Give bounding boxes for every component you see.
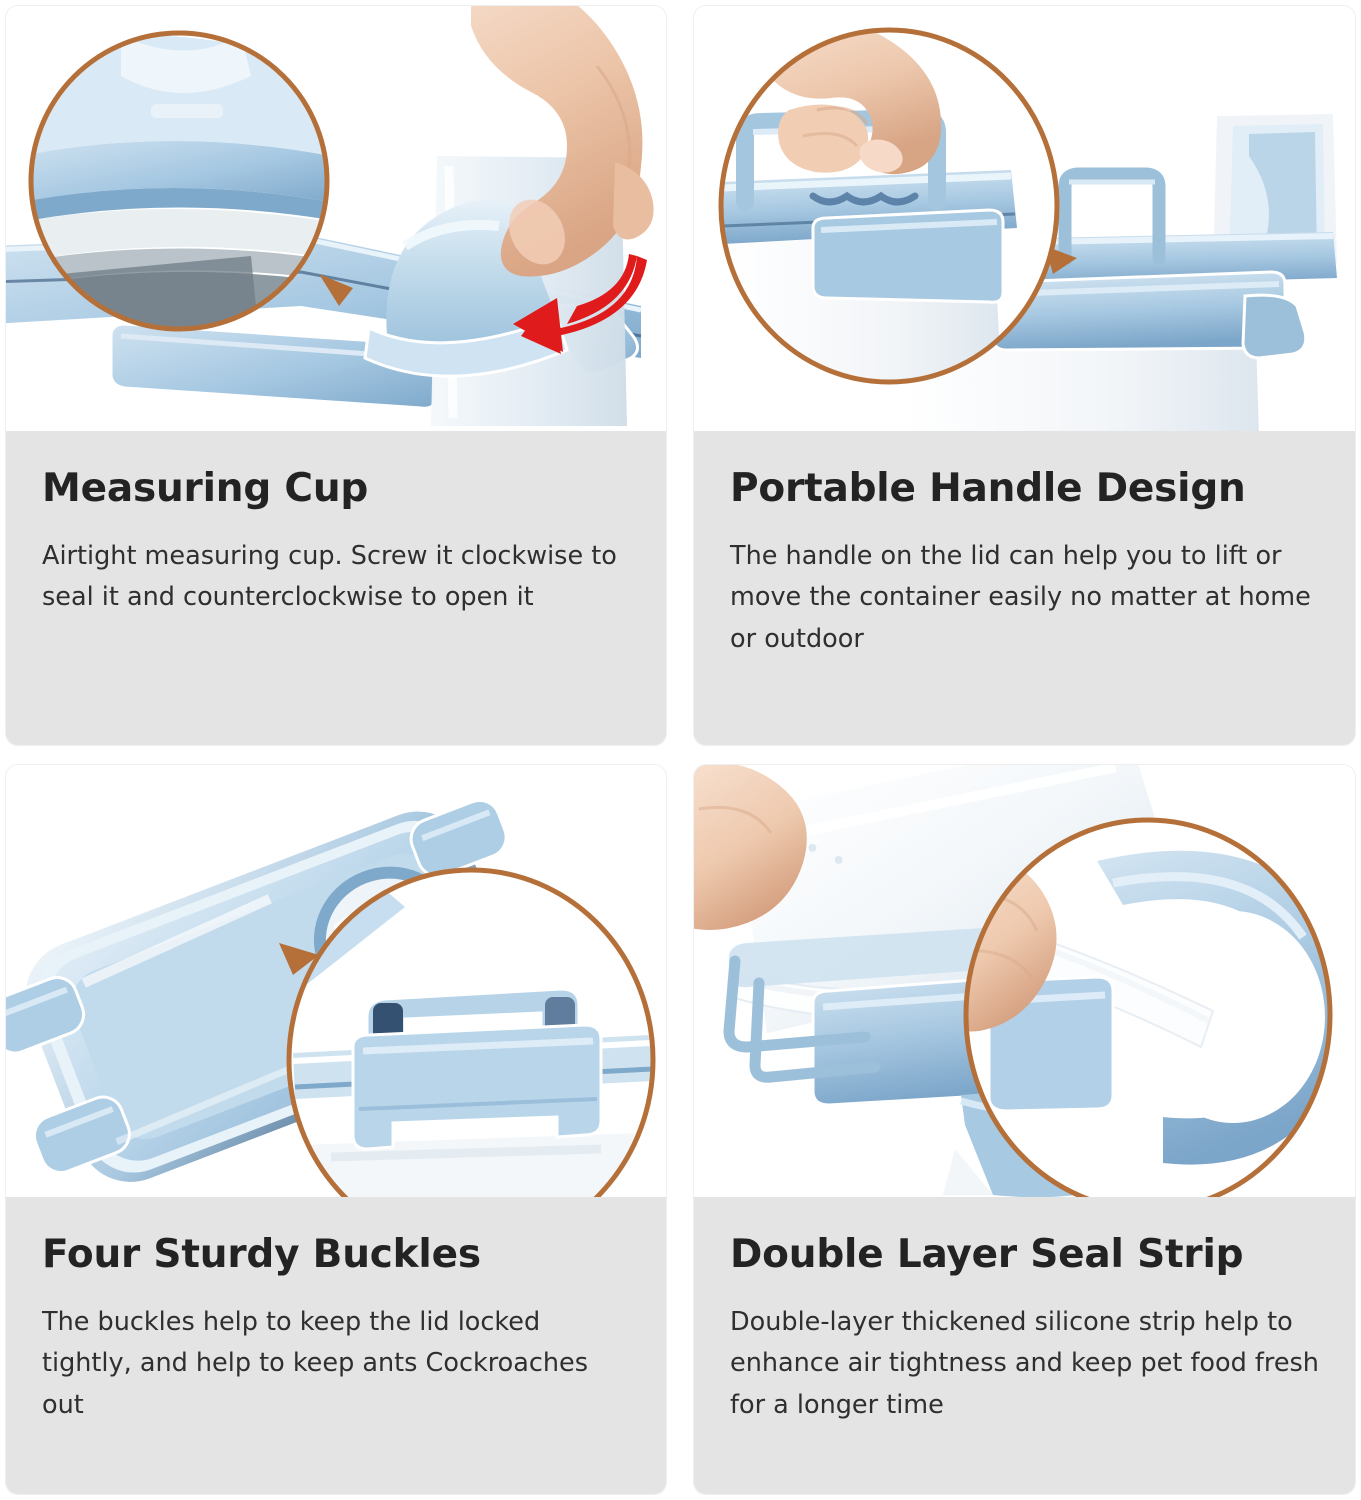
panel-caption: Portable Handle Design The handle on the… bbox=[694, 431, 1355, 745]
product-photo-four-buckles bbox=[6, 765, 666, 1197]
panel-title: Portable Handle Design bbox=[730, 469, 1319, 510]
panel-description: The buckles help to keep the lid locked … bbox=[42, 1302, 630, 1426]
product-photo-seal-strip bbox=[694, 765, 1355, 1197]
product-photo-measuring-cup bbox=[6, 6, 666, 431]
panel-card: Portable Handle Design The handle on the… bbox=[693, 5, 1356, 746]
panel-description: Airtight measuring cup. Screw it clockwi… bbox=[42, 536, 630, 619]
panel-title: Four Sturdy Buckles bbox=[42, 1235, 630, 1276]
feature-panel-four-buckles: Four Sturdy Buckles The buckles help to … bbox=[0, 755, 680, 1500]
panel-card: Four Sturdy Buckles The buckles help to … bbox=[5, 764, 667, 1495]
panel-card: Double Layer Seal Strip Double-layer thi… bbox=[693, 764, 1356, 1495]
panel-card: Measuring Cup Airtight measuring cup. Sc… bbox=[5, 5, 667, 746]
feature-grid: Measuring Cup Airtight measuring cup. Sc… bbox=[0, 0, 1361, 1500]
product-photo-portable-handle bbox=[694, 6, 1355, 431]
panel-caption: Four Sturdy Buckles The buckles help to … bbox=[6, 1197, 666, 1494]
panel-title: Double Layer Seal Strip bbox=[730, 1235, 1319, 1276]
feature-panel-measuring-cup: Measuring Cup Airtight measuring cup. Sc… bbox=[0, 0, 680, 755]
feature-panel-double-seal-strip: Double Layer Seal Strip Double-layer thi… bbox=[680, 755, 1361, 1500]
panel-description: The handle on the lid can help you to li… bbox=[730, 536, 1319, 660]
panel-description: Double-layer thickened silicone strip he… bbox=[730, 1302, 1319, 1426]
panel-caption: Double Layer Seal Strip Double-layer thi… bbox=[694, 1197, 1355, 1494]
panel-caption: Measuring Cup Airtight measuring cup. Sc… bbox=[6, 431, 666, 745]
panel-title: Measuring Cup bbox=[42, 469, 630, 510]
feature-panel-portable-handle: Portable Handle Design The handle on the… bbox=[680, 0, 1361, 755]
